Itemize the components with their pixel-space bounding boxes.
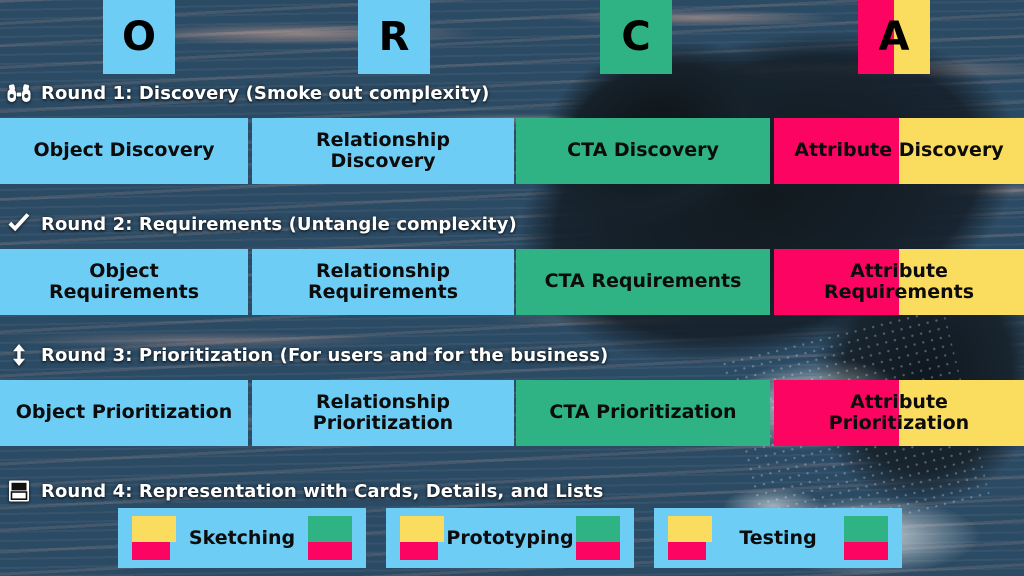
round-3-phase-row: Object PrioritizationRelationship Priori…	[0, 380, 1024, 446]
swatch-card	[132, 516, 176, 560]
card-detail-icon	[6, 479, 32, 503]
acronym-letter: R	[379, 17, 410, 57]
acronym-tile-a: A	[858, 0, 930, 74]
round-1-header-label: Round 1: Discovery (Smoke out complexity…	[41, 83, 490, 104]
phase-cell-label: Relationship Prioritization	[252, 392, 514, 435]
acronym-letter: C	[621, 17, 650, 57]
round-4-chips: SketchingPrototypingTesting	[0, 508, 1024, 568]
phase-cell-cta-prioritization[interactable]: CTA Prioritization	[516, 380, 770, 446]
swatch-list	[844, 516, 888, 560]
round-4-chip-label: Sketching	[189, 527, 295, 549]
round-2-header: Round 2: Requirements (Untangle complexi…	[6, 211, 517, 237]
phase-cell-object-requirements[interactable]: Object Requirements	[0, 249, 248, 315]
phase-cell-label: Object Discovery	[0, 140, 248, 161]
round-4-chip-label: Prototyping	[446, 527, 573, 549]
phase-cell-attribute-requirements[interactable]: Attribute Requirements	[774, 249, 1024, 315]
round-4-chip-sketching[interactable]: Sketching	[118, 508, 366, 568]
swatch-list	[576, 516, 620, 560]
phase-cell-attribute-discovery[interactable]: Attribute Discovery	[774, 118, 1024, 184]
orca-acronym-tiles: ORCA	[0, 0, 1024, 74]
round-4-header-label: Round 4: Representation with Cards, Deta…	[41, 481, 603, 502]
orca-framework-slide: ORCA Round 1: Discovery (Smoke out compl…	[0, 0, 1024, 576]
phase-cell-cta-discovery[interactable]: CTA Discovery	[516, 118, 770, 184]
swatch-list	[308, 516, 352, 560]
binoculars-icon	[6, 81, 32, 105]
phase-cell-relationship-requirements[interactable]: Relationship Requirements	[252, 249, 514, 315]
phase-cell-label: Object Prioritization	[0, 402, 248, 423]
phase-cell-label: Relationship Discovery	[252, 130, 514, 173]
phase-cell-label: Attribute Discovery	[774, 140, 1024, 161]
acronym-tile-o: O	[103, 0, 175, 74]
check-icon	[6, 212, 32, 236]
round-1-header: Round 1: Discovery (Smoke out complexity…	[6, 80, 490, 106]
phase-cell-object-prioritization[interactable]: Object Prioritization	[0, 380, 248, 446]
phase-cell-label: CTA Discovery	[516, 140, 770, 161]
round-2-phase-row: Object RequirementsRelationship Requirem…	[0, 249, 1024, 315]
phase-cell-label: Attribute Prioritization	[774, 392, 1024, 435]
acronym-letter: O	[122, 17, 156, 57]
up-down-arrow-icon	[6, 343, 32, 367]
round-4-chip-testing[interactable]: Testing	[654, 508, 902, 568]
phase-cell-relationship-discovery[interactable]: Relationship Discovery	[252, 118, 514, 184]
round-2-header-label: Round 2: Requirements (Untangle complexi…	[41, 214, 517, 235]
swatch-card	[400, 516, 444, 560]
phase-cell-attribute-prioritization[interactable]: Attribute Prioritization	[774, 380, 1024, 446]
round-3-header: Round 3: Prioritization (For users and f…	[6, 342, 608, 368]
phase-cell-label: CTA Requirements	[516, 271, 770, 292]
round-1-phase-row: Object DiscoveryRelationship DiscoveryCT…	[0, 118, 1024, 184]
round-4-header: Round 4: Representation with Cards, Deta…	[6, 478, 603, 504]
acronym-letter: A	[879, 17, 910, 57]
round-4-chip-label: Testing	[739, 527, 816, 549]
phase-cell-object-discovery[interactable]: Object Discovery	[0, 118, 248, 184]
phase-cell-label: Relationship Requirements	[252, 261, 514, 304]
phase-cell-cta-requirements[interactable]: CTA Requirements	[516, 249, 770, 315]
acronym-tile-c: C	[600, 0, 672, 74]
phase-cell-label: Object Requirements	[0, 261, 248, 304]
swatch-card	[668, 516, 712, 560]
phase-cell-relationship-prioritization[interactable]: Relationship Prioritization	[252, 380, 514, 446]
round-3-header-label: Round 3: Prioritization (For users and f…	[41, 345, 608, 366]
phase-cell-label: CTA Prioritization	[516, 402, 770, 423]
phase-cell-label: Attribute Requirements	[774, 261, 1024, 304]
acronym-tile-r: R	[358, 0, 430, 74]
round-4-chip-prototyping[interactable]: Prototyping	[386, 508, 634, 568]
